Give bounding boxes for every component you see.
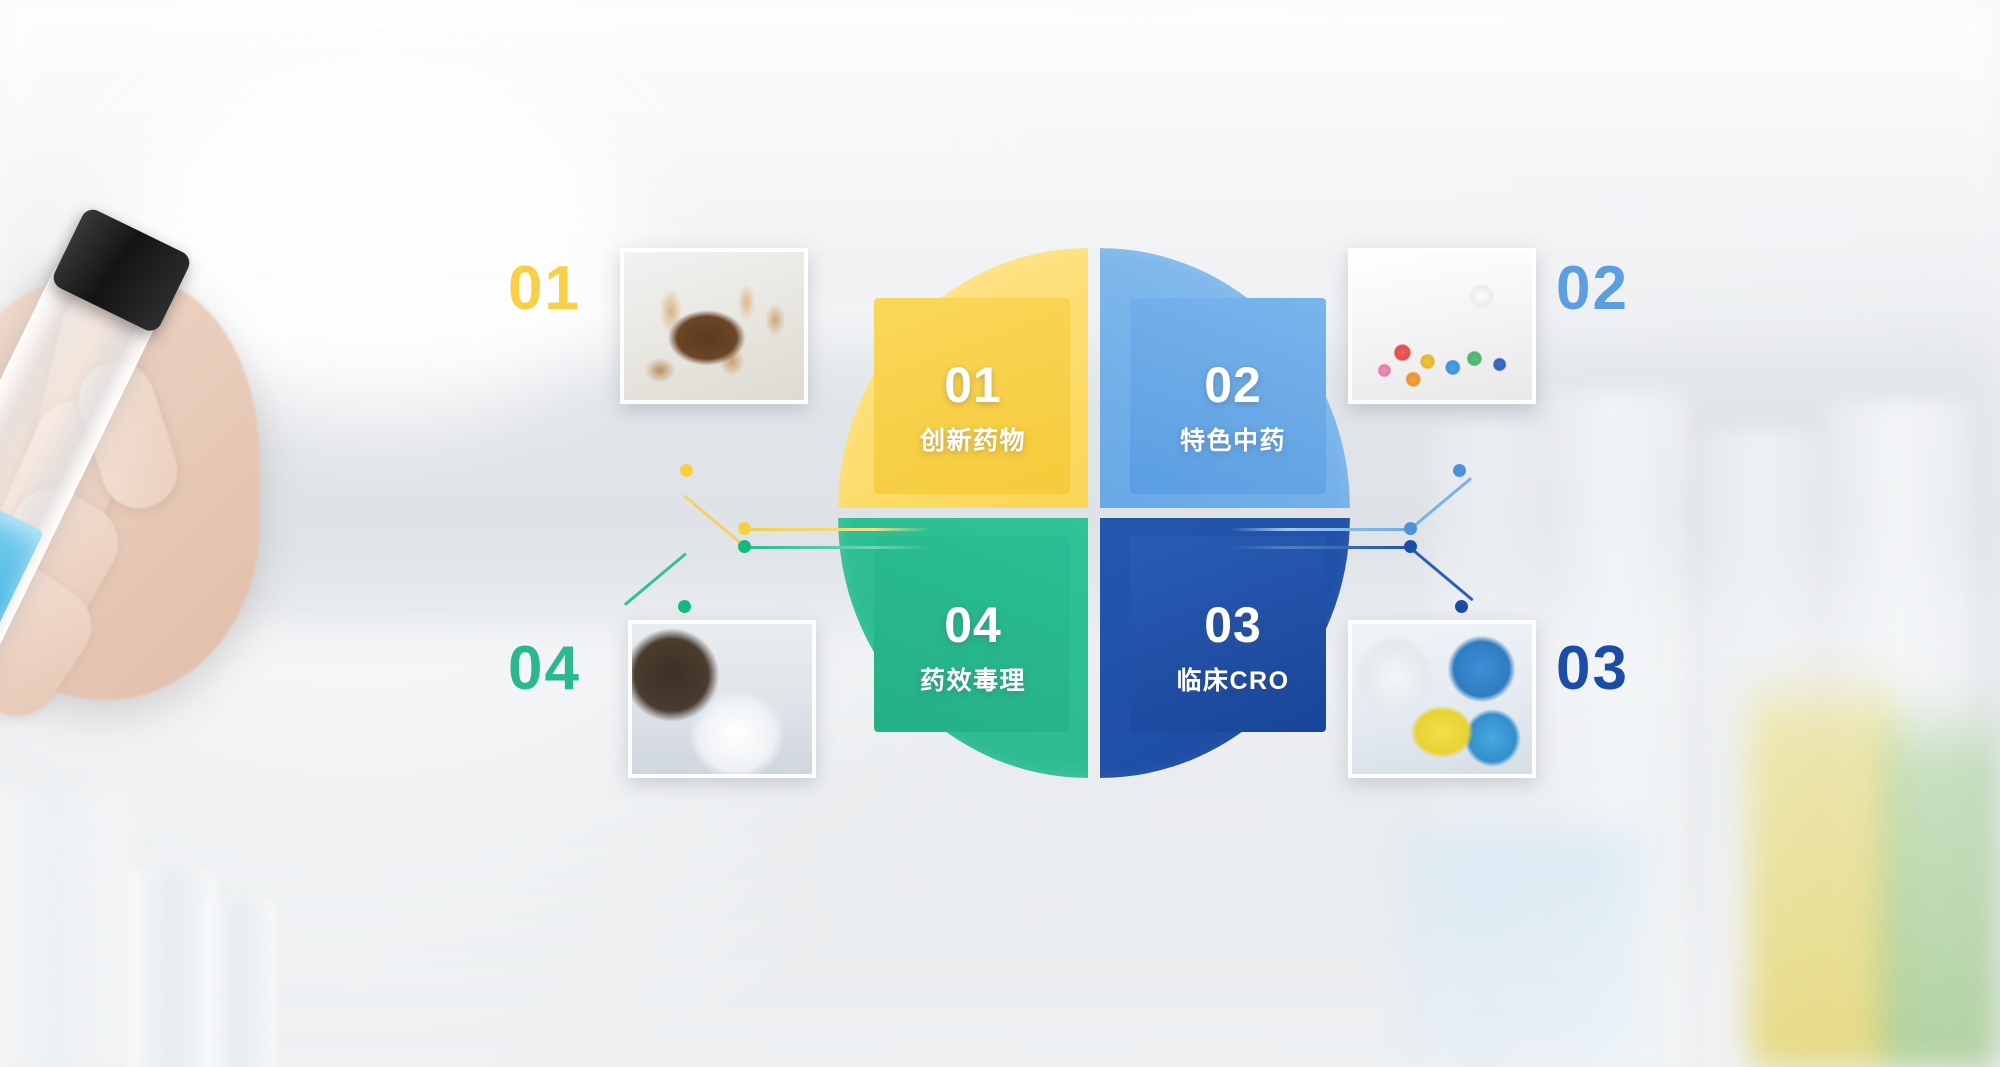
thumbnail-01[interactable] [620,248,808,404]
connector-line-03 [1230,546,1415,549]
callout-number-04: 04 [508,638,581,700]
segment-label-01: 创新药物 [868,421,1078,457]
segment-number-01: 01 [868,360,1078,410]
infographic-canvas: 01 创新药物 02 特色中药 04 药效毒理 03 临床CRO [0,0,2000,1067]
pills-and-bottle-photo [1352,252,1532,400]
segment-label-03: 临床CRO [1128,661,1338,697]
hand-with-test-tube [0,280,460,900]
gloved-hands-lab-photo [1352,624,1532,774]
connector-dot-02-inner [1404,522,1417,535]
segment-number-03: 03 [1128,600,1338,650]
connector-dot-02-outer [1453,464,1466,477]
callout-number-03: 03 [1556,638,1629,700]
connector-dot-01-outer [680,464,693,477]
connector-dot-04-outer [678,600,691,613]
background-green-liquid [1880,690,2000,1067]
connector-dot-03-outer [1455,600,1468,613]
connector-line-01 [745,528,930,531]
connector-dot-03-inner [1404,540,1417,553]
segment-text-01: 01 创新药物 [868,360,1078,457]
thumbnail-03[interactable] [1348,620,1536,778]
connector-line-02 [1230,528,1415,531]
background-blue-panel [1410,830,1640,1067]
dried-herbs-photo [624,252,804,400]
scientist-microscope-photo [632,624,812,774]
callout-number-02: 02 [1556,258,1629,320]
segment-label-02: 特色中药 [1128,421,1338,457]
segment-label-04: 药效毒理 [868,661,1078,697]
segment-number-02: 02 [1128,360,1338,410]
connector-dot-04-inner [738,540,751,553]
quadrant-wheel: 01 创新药物 02 特色中药 04 药效毒理 03 临床CRO [838,248,1358,788]
connector-line-04 [745,546,930,549]
segment-text-02: 02 特色中药 [1128,360,1338,457]
background-yellow-liquid [1748,660,1898,1067]
segment-number-04: 04 [868,600,1078,650]
background-test-tube [202,900,276,1067]
segment-text-03: 03 临床CRO [1128,600,1338,697]
connector-dot-01-inner [738,522,751,535]
thumbnail-02[interactable] [1348,248,1536,404]
segment-text-04: 04 药效毒理 [868,600,1078,697]
thumbnail-04[interactable] [628,620,816,778]
callout-number-01: 01 [508,258,581,320]
